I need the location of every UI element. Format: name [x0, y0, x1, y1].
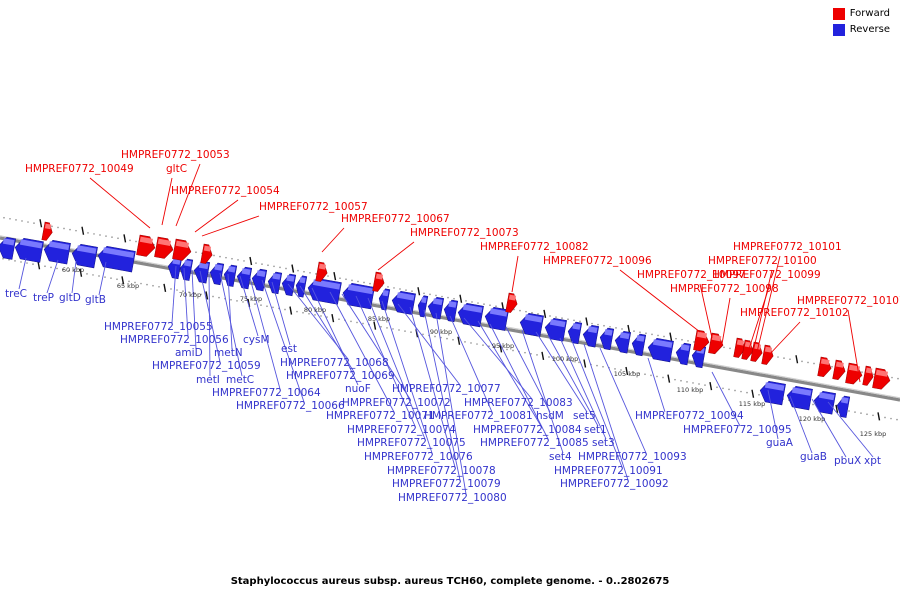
axis-tick-label: 120 kbp — [799, 415, 826, 423]
reverse-gene-label[interactable]: pbuX — [834, 455, 861, 467]
reverse-gene-leader — [19, 258, 26, 289]
reverse-gene-label[interactable]: nuoF — [345, 383, 371, 395]
axis-tick-label: 105 kbp — [614, 370, 641, 378]
reverse-gene-leader — [99, 262, 106, 295]
forward-gene-leader — [195, 200, 238, 232]
reverse-gene-label[interactable]: HMPREF0772_10071 — [326, 410, 435, 422]
axis-tick-label: 65 kbp — [117, 282, 139, 290]
gene-arrow[interactable] — [845, 363, 863, 385]
gene-arrow[interactable] — [154, 237, 174, 260]
genome-track-canvas[interactable]: HMPREF0772_10049gltCHMPREF0772_10053HMPR… — [0, 0, 900, 600]
reverse-gene-label[interactable]: hsdM — [536, 410, 564, 422]
axis-tick-label: 125 kbp — [860, 430, 887, 438]
reverse-gene-label[interactable]: set3 — [592, 437, 615, 449]
gene-arrow[interactable] — [812, 390, 835, 414]
legend-item-reverse: Reverse — [833, 24, 890, 36]
reverse-gene-label[interactable]: HMPREF0772_10077 — [392, 383, 501, 395]
forward-gene-leader — [90, 178, 150, 228]
reverse-gene-label[interactable]: treP — [33, 292, 54, 304]
gene-arrow[interactable] — [222, 264, 237, 287]
gene-arrow[interactable] — [136, 235, 156, 258]
reverse-gene-label[interactable]: set4 — [549, 451, 572, 463]
reverse-gene-label[interactable]: HMPREF0772_10055 — [104, 321, 213, 333]
axis-tick-label: 60 kbp — [62, 266, 84, 274]
forward-gene-leader — [202, 216, 259, 236]
forward-gene-leader — [512, 256, 518, 292]
forward-gene-label[interactable]: HMPREF0772_10100 — [708, 255, 817, 267]
gene-arrow[interactable] — [646, 337, 673, 362]
reverse-gene-label[interactable]: metI — [196, 374, 220, 386]
gene-arrow[interactable] — [872, 368, 891, 391]
reverse-gene-label[interactable]: treC — [5, 288, 27, 300]
gene-arrow[interactable] — [818, 357, 833, 378]
reverse-gene-label[interactable]: metN — [214, 347, 243, 359]
gene-arrow[interactable] — [373, 272, 386, 292]
gene-arrow[interactable] — [42, 222, 54, 241]
reverse-gene-label[interactable]: HMPREF0772_10080 — [398, 492, 507, 504]
gene-arrow[interactable] — [70, 243, 97, 268]
forward-gene-label[interactable]: HMPREF0772_10098 — [670, 283, 779, 295]
reverse-gene-label[interactable]: gltB — [85, 294, 106, 306]
forward-gene-label[interactable]: HMPREF0772_10096 — [543, 255, 652, 267]
reverse-gene-label[interactable]: HMPREF0772_10056 — [120, 334, 229, 346]
forward-gene-label[interactable]: HMPREF0772_10099 — [712, 269, 821, 281]
gene-arrow[interactable] — [306, 277, 341, 304]
axis-tick-label: 110 kbp — [677, 386, 704, 394]
reverse-gene-label[interactable]: guaB — [800, 451, 827, 463]
forward-gene-label[interactable]: gltC — [166, 163, 187, 175]
gene-arrow[interactable] — [42, 239, 70, 264]
forward-gene-leader — [722, 298, 730, 344]
axis-tick-label: 75 kbp — [240, 295, 262, 303]
axis-tick-label: 100 kbp — [552, 355, 579, 363]
legend-forward-label: Forward — [850, 8, 890, 20]
axis-tick-label: 85 kbp — [368, 315, 390, 323]
reverse-gene-label[interactable]: HMPREF0772_10059 — [152, 360, 261, 372]
forward-gene-label[interactable]: HMPREF0772_10082 — [480, 241, 589, 253]
reverse-gene-label[interactable]: HMPREF0772_10072 — [342, 397, 451, 409]
reverse-gene-label[interactable]: set5 — [573, 410, 596, 422]
genome-diagram-stage: HMPREF0772_10049gltCHMPREF0772_10053HMPR… — [0, 0, 900, 600]
reverse-gene-label[interactable]: xpt — [864, 455, 881, 467]
reverse-gene-label[interactable]: HMPREF0772_10075 — [357, 437, 466, 449]
forward-gene-label[interactable]: HMPREF0772_10053 — [121, 149, 230, 161]
gene-arrow[interactable] — [192, 260, 209, 283]
gene-arrow[interactable] — [833, 360, 847, 381]
reverse-gene-label[interactable]: amiD — [175, 347, 203, 359]
forward-gene-label[interactable]: HMPREF0772_10057 — [259, 201, 368, 213]
gene-arrow[interactable] — [785, 385, 812, 410]
reverse-gene-leader — [648, 358, 665, 412]
reverse-gene-label[interactable]: HMPREF0772_10095 — [683, 424, 792, 436]
forward-gene-leader — [378, 242, 414, 270]
legend-item-forward: Forward — [833, 8, 890, 20]
forward-gene-label[interactable]: HMPREF0772_10073 — [410, 227, 519, 239]
gene-arrow[interactable] — [751, 342, 764, 362]
gene-arrow[interactable] — [506, 293, 519, 313]
forward-gene-leader — [322, 228, 344, 252]
forward-color-swatch — [833, 8, 845, 20]
legend-reverse-label: Reverse — [850, 24, 890, 36]
strand-legend: Forward Reverse — [833, 8, 890, 36]
reverse-gene-label[interactable]: cysM — [243, 334, 270, 346]
reverse-gene-label[interactable]: HMPREF0772_10078 — [387, 465, 496, 477]
forward-gene-label[interactable]: HMPREF0772_10054 — [171, 185, 280, 197]
reverse-gene-label[interactable]: HMPREF0772_10094 — [635, 410, 744, 422]
reverse-gene-label[interactable]: metC — [226, 374, 254, 386]
gene-arrow[interactable] — [96, 245, 135, 272]
axis-tick-label: 95 kbp — [492, 342, 514, 350]
reverse-gene-label[interactable]: HMPREF0772_10074 — [347, 424, 456, 436]
reverse-gene-label[interactable]: HMPREF0772_10079 — [392, 478, 501, 490]
reverse-gene-label[interactable]: HMPREF0772_10069 — [286, 370, 395, 382]
reverse-gene-label[interactable]: HMPREF0772_10085 — [480, 437, 589, 449]
reverse-gene-label[interactable]: HMPREF0772_10091 — [554, 465, 663, 477]
gene-labels[interactable]: HMPREF0772_10049gltCHMPREF0772_10053HMPR… — [5, 149, 900, 504]
axis-tick-label: 70 kbp — [179, 291, 201, 299]
reverse-gene-label[interactable]: HMPREF0772_10093 — [578, 451, 687, 463]
reverse-gene-label[interactable]: HMPREF0772_10092 — [560, 478, 669, 490]
gene-arrow[interactable] — [316, 262, 329, 282]
gene-arrow[interactable] — [693, 330, 710, 352]
reverse-gene-label[interactable]: HMPREF0772_10084 — [473, 424, 582, 436]
axis-tick-label: 115 kbp — [739, 400, 766, 408]
reverse-gene-label[interactable]: HMPREF0772_10064 — [212, 387, 321, 399]
forward-gene-label[interactable]: HMPREF0772_10107 — [797, 295, 900, 307]
forward-gene-label[interactable]: HMPREF0772_10049 — [25, 163, 134, 175]
gene-arrow[interactable] — [341, 282, 374, 309]
reverse-gene-label[interactable]: set1 — [584, 424, 607, 436]
reverse-gene-leader — [47, 260, 58, 293]
gene-arrow[interactable] — [235, 266, 252, 289]
genome-caption: Staphylococcus aureus subsp. aureus TCH6… — [0, 576, 900, 587]
reverse-gene-label[interactable]: HMPREF0772_10081 — [424, 410, 533, 422]
forward-gene-leader — [768, 322, 800, 356]
reverse-gene-label[interactable]: est — [281, 343, 297, 355]
reverse-gene-label[interactable]: HMPREF0772_10068 — [280, 357, 389, 369]
reverse-color-swatch — [833, 24, 845, 36]
reverse-gene-label[interactable]: gltD — [59, 292, 81, 304]
axis-tick-label: 90 kbp — [430, 328, 452, 336]
reverse-gene-label[interactable]: HMPREF0772_10076 — [364, 451, 473, 463]
reverse-gene-label[interactable]: guaA — [766, 437, 794, 449]
forward-gene-label[interactable]: HMPREF0772_10101 — [733, 241, 842, 253]
forward-gene-label[interactable]: HMPREF0772_10067 — [341, 213, 450, 225]
axis-tick-label: 80 kbp — [304, 306, 326, 314]
forward-gene-label[interactable]: HMPREF0772_10102 — [740, 307, 849, 319]
gene-arrow[interactable] — [201, 244, 214, 264]
gene-arrow[interactable] — [172, 239, 192, 262]
reverse-gene-label[interactable]: HMPREF0772_10083 — [464, 397, 573, 409]
